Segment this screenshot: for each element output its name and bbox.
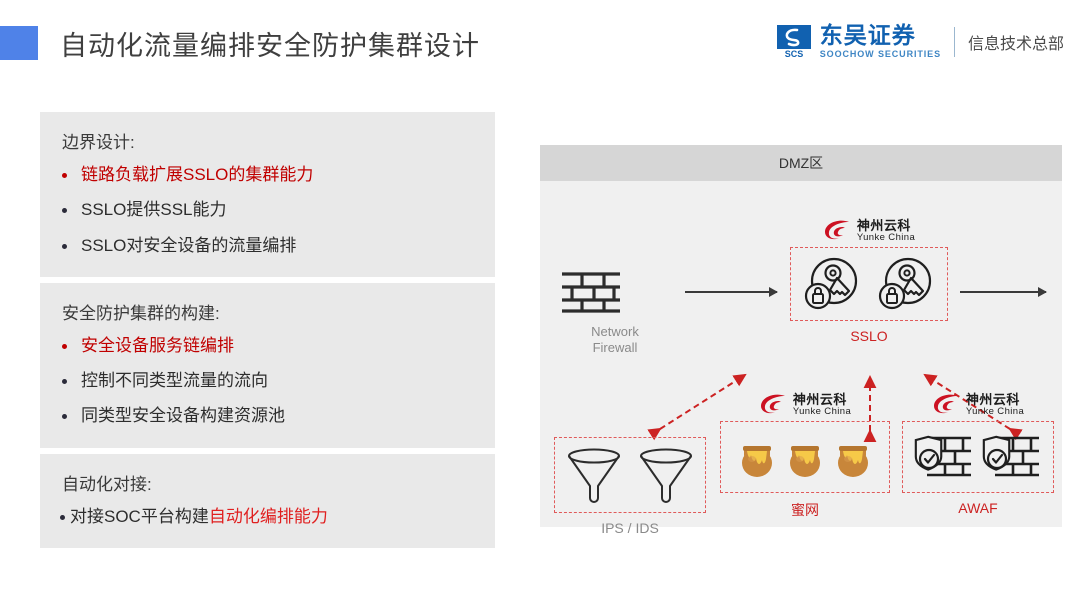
brand-divider	[954, 27, 955, 57]
brand-department: 信息技术总部	[968, 30, 1064, 54]
firewall-label-line1: Network	[591, 324, 639, 339]
vendor-text: 神州云科 Yunke China	[857, 219, 915, 244]
brick-wall-icon	[560, 266, 622, 316]
node-label: Network Firewall	[560, 324, 670, 357]
funnel-icon	[566, 446, 622, 504]
inbound-traffic-arrow	[685, 291, 777, 293]
panel-security-cluster: 安全防护集群的构建: 安全设备服务链编排 控制不同类型流量的流向 同类型安全设备…	[40, 283, 495, 448]
bullet-dot-icon	[62, 344, 67, 349]
group-sslo: 神州云科 Yunke China	[790, 219, 948, 344]
panel-title: 边界设计:	[40, 124, 495, 157]
key-lock-icon	[803, 256, 861, 312]
panel-title: 安全防护集群的构建:	[40, 295, 495, 328]
list-item: 同类型安全设备构建资源池	[40, 398, 495, 433]
group-honeynet: 神州云科 Yunke China	[720, 393, 890, 520]
panel-automation-integration: 自动化对接: 对接SOC平台构建自动化编排能力	[40, 454, 495, 548]
vendor-name-en: Yunke China	[857, 233, 915, 244]
honeynet-box	[720, 421, 890, 493]
brand-name-cn: 东吴证券	[820, 24, 941, 47]
list-item: SSLO提供SSL能力	[40, 192, 495, 227]
funnel-icon	[638, 446, 694, 504]
shield-wall-icon	[981, 429, 1043, 485]
bullet-dot-icon	[62, 208, 67, 213]
vendor-name-cn: 神州云科	[966, 393, 1024, 407]
bullet-text-group: 对接SOC平台构建自动化编排能力	[70, 506, 328, 527]
vendor-name-cn: 神州云科	[857, 219, 915, 233]
bullet-dot-icon	[60, 515, 65, 520]
bullet-text-highlight: 自动化编排能力	[209, 507, 328, 526]
bullet-text: SSLO提供SSL能力	[81, 199, 227, 220]
bullet-dot-icon	[62, 414, 67, 419]
dmz-zone-header: DMZ区	[540, 145, 1062, 181]
sslo-cluster-box	[790, 247, 948, 321]
vendor-name-en: Yunke China	[793, 407, 851, 418]
panel-boundary-design: 边界设计: 链路负载扩展SSLO的集群能力 SSLO提供SSL能力 SSLO对安…	[40, 112, 495, 277]
panel-title: 自动化对接:	[40, 466, 495, 499]
bullet-text: 控制不同类型流量的流向	[81, 370, 268, 391]
firewall-label-line2: Firewall	[593, 340, 638, 355]
group-awaf: 神州云科 Yunke China	[902, 393, 1054, 516]
group-ips-ids: IPS / IDS	[554, 437, 706, 536]
bullet-text: 对接SOC平台构建	[70, 507, 209, 526]
vendor-text: 神州云科 Yunke China	[966, 393, 1024, 418]
bullet-dot-icon	[62, 379, 67, 384]
bullet-text: 链路负载扩展SSLO的集群能力	[81, 164, 313, 185]
slide-root: 自动化流量编排安全防护集群设计 SCS 东吴证券 SOOCHOW SECURIT…	[0, 0, 1080, 608]
list-item: 安全设备服务链编排	[40, 328, 495, 363]
list-item: 控制不同类型流量的流向	[40, 363, 495, 398]
honey-pot-icon	[834, 435, 872, 479]
shield-wall-icon	[913, 429, 975, 485]
bullet-panels: 边界设计: 链路负载扩展SSLO的集群能力 SSLO提供SSL能力 SSLO对安…	[40, 112, 495, 554]
dmz-zone-label: DMZ区	[779, 153, 823, 173]
title-accent-bar	[0, 26, 38, 60]
bullet-text: 同类型安全设备构建资源池	[81, 405, 285, 426]
outbound-traffic-arrow	[960, 291, 1046, 293]
vendor-logo-yunke: 神州云科 Yunke China	[720, 393, 890, 418]
yunke-swirl-icon	[823, 219, 853, 243]
list-item: 对接SOC平台构建自动化编排能力	[40, 499, 495, 534]
diagram-body: Network Firewall 神州云科 Yunke China	[540, 181, 1062, 527]
awaf-box	[902, 421, 1054, 493]
brand-logo: SCS 东吴证券 SOOCHOW SECURITIES 信息技术总部	[777, 24, 1064, 60]
vendor-text: 神州云科 Yunke China	[793, 393, 851, 418]
bullet-text: SSLO对安全设备的流量编排	[81, 235, 296, 256]
brand-text: 东吴证券 SOOCHOW SECURITIES	[820, 24, 941, 60]
honeynet-label: 蜜网	[720, 500, 890, 520]
vendor-logo-yunke: 神州云科 Yunke China	[790, 219, 948, 244]
architecture-diagram: DMZ区	[540, 145, 1062, 527]
key-lock-icon	[877, 256, 935, 312]
sslo-label: SSLO	[790, 328, 948, 344]
page-title: 自动化流量编排安全防护集群设计	[60, 24, 480, 63]
yunke-swirl-icon	[932, 393, 962, 417]
awaf-label: AWAF	[902, 500, 1054, 516]
bullet-dot-icon	[62, 244, 67, 249]
svg-text:SCS: SCS	[785, 49, 804, 59]
brand-name-en: SOOCHOW SECURITIES	[820, 49, 941, 60]
vendor-name-cn: 神州云科	[793, 393, 851, 407]
honey-pot-icon	[786, 435, 824, 479]
node-network-firewall: Network Firewall	[560, 266, 670, 357]
yunke-swirl-icon	[759, 393, 789, 417]
bullet-text: 安全设备服务链编排	[81, 335, 234, 356]
vendor-name-en: Yunke China	[966, 407, 1024, 418]
ips-ids-box	[554, 437, 706, 513]
list-item: SSLO对安全设备的流量编排	[40, 228, 495, 263]
scs-logo-icon: SCS	[777, 25, 811, 59]
bullet-dot-icon	[62, 173, 67, 178]
vendor-logo-yunke: 神州云科 Yunke China	[902, 393, 1054, 418]
honey-pot-icon	[738, 435, 776, 479]
ips-ids-label: IPS / IDS	[554, 520, 706, 536]
list-item: 链路负载扩展SSLO的集群能力	[40, 157, 495, 192]
